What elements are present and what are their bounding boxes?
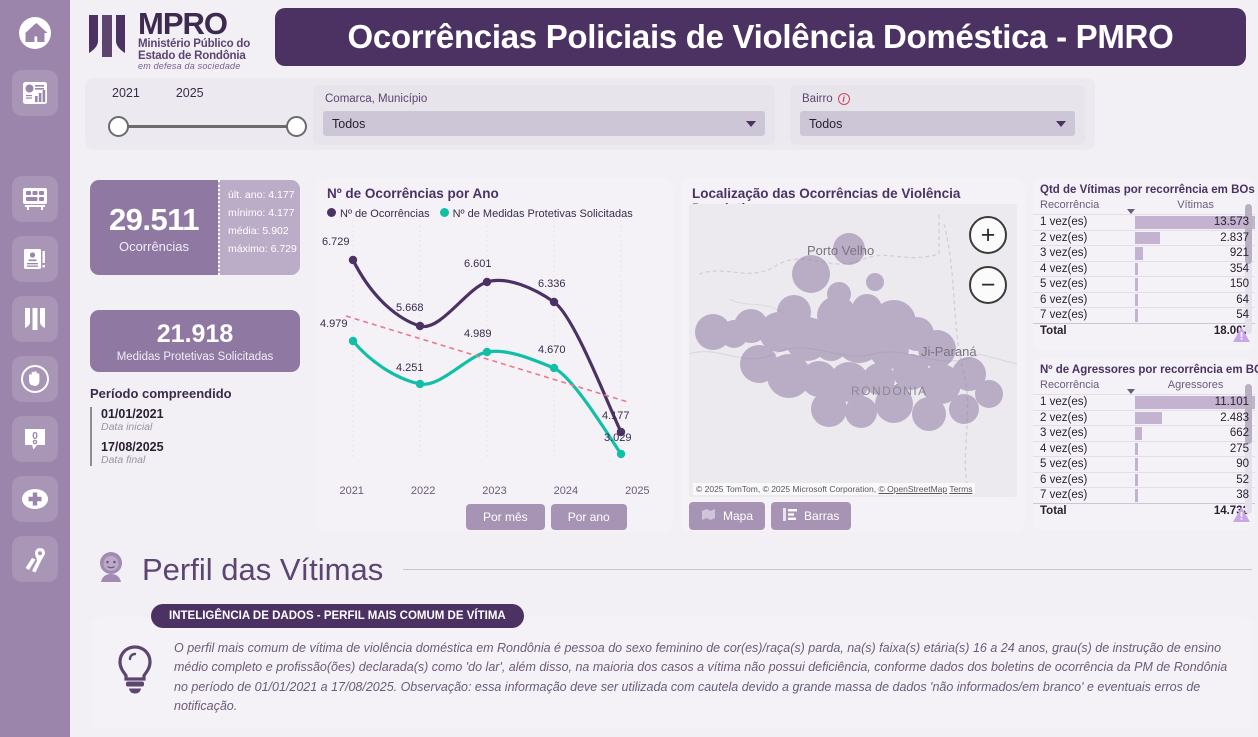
sort-caret-icon bbox=[1127, 389, 1135, 394]
logo-line-1: Ministério Público do bbox=[138, 39, 250, 51]
kpi-stat-min: mínimo: 4.177 bbox=[228, 207, 300, 219]
kpi-stat-avg: média: 5.902 bbox=[228, 225, 300, 237]
row-label: 7 vez(es) bbox=[1033, 308, 1135, 324]
victims-col-recurrence[interactable]: Recorrência bbox=[1033, 198, 1135, 215]
period-heading: Período compreendido bbox=[90, 386, 305, 401]
sidebar-item-speech-balloon[interactable]: 0 bbox=[12, 416, 58, 462]
map-canvas[interactable]: Porto Velho Ji-Paraná RONDÔNIA + − © 202… bbox=[689, 204, 1017, 497]
sidebar-item-dashboard[interactable] bbox=[12, 70, 58, 116]
table-total-row: Total14.732 bbox=[1033, 503, 1255, 519]
warning-icon[interactable] bbox=[1232, 326, 1251, 348]
slider-max-label: 2025 bbox=[176, 86, 204, 100]
chevron-down-icon bbox=[1056, 121, 1066, 127]
filter-bar: 2021 2025 Comarca, Município Todos Bairr… bbox=[85, 78, 1095, 150]
chevron-down-icon bbox=[746, 121, 756, 127]
table-row[interactable]: 7 vez(es)38 bbox=[1033, 488, 1255, 504]
table-row[interactable]: 2 vez(es)2.837 bbox=[1033, 230, 1255, 246]
row-bar bbox=[1135, 294, 1137, 307]
sidebar-item-ribbon[interactable] bbox=[12, 536, 58, 582]
warning-icon[interactable] bbox=[1232, 506, 1251, 528]
map-attribution: © 2025 TomTom, © 2025 Microsoft Corporat… bbox=[693, 483, 975, 495]
filter-bairro-label: Bairro i bbox=[790, 85, 1085, 105]
lightbulb-icon bbox=[117, 645, 153, 700]
aggressors-recurrence-table-panel: Nº de Agressores por recorrência em BOs … bbox=[1033, 358, 1255, 530]
map-place-rondonia: RONDÔNIA bbox=[851, 384, 928, 398]
x-tick-2022: 2022 bbox=[387, 485, 458, 497]
victim-avatar-icon bbox=[92, 548, 130, 591]
info-icon[interactable]: i bbox=[838, 93, 850, 105]
slider-track bbox=[118, 125, 297, 128]
row-value: 2.837 bbox=[1135, 230, 1255, 246]
mpro-shield-logo-icon bbox=[85, 13, 129, 67]
profile-heading: Perfil das Vítimas bbox=[142, 552, 383, 588]
logo-acronym: MPRO bbox=[138, 8, 250, 39]
x-tick-2025: 2025 bbox=[602, 485, 673, 497]
table-row[interactable]: 4 vez(es)354 bbox=[1033, 261, 1255, 277]
filter-bairro-label-text: Bairro bbox=[802, 93, 833, 105]
row-value: 90 bbox=[1135, 457, 1255, 473]
total-label: Total bbox=[1033, 323, 1135, 339]
aggressors-table-body: 1 vez(es)11.1012 vez(es)2.4833 vez(es)66… bbox=[1033, 395, 1255, 519]
row-bar bbox=[1135, 458, 1137, 471]
sidebar: 0 bbox=[0, 0, 70, 737]
table-row[interactable]: 6 vez(es)64 bbox=[1033, 292, 1255, 308]
row-label: 3 vez(es) bbox=[1033, 246, 1135, 262]
map-attribution-text: © 2025 TomTom, © 2025 Microsoft Corporat… bbox=[696, 484, 876, 494]
row-label: 3 vez(es) bbox=[1033, 426, 1135, 442]
chart-granularity-buttons: Por mês Por ano bbox=[466, 504, 627, 530]
victims-table: Recorrência Vítimas 1 vez(es)13.5732 vez… bbox=[1033, 198, 1255, 339]
row-bar bbox=[1135, 474, 1137, 487]
aggressors-table: Recorrência Agressores 1 vez(es)11.1012 … bbox=[1033, 378, 1255, 519]
row-bar bbox=[1135, 427, 1142, 440]
row-value: 150 bbox=[1135, 277, 1255, 293]
legend-item-occurrences[interactable]: Nº de Ocorrências bbox=[327, 208, 430, 220]
chart-label-occ-2022: 5.668 bbox=[396, 302, 424, 314]
row-label: 6 vez(es) bbox=[1033, 472, 1135, 488]
header: MPRO Ministério Público do Estado de Ron… bbox=[70, 0, 1258, 74]
sidebar-item-health-cross[interactable] bbox=[12, 476, 58, 522]
home-icon bbox=[18, 16, 52, 50]
row-label: 2 vez(es) bbox=[1033, 230, 1135, 246]
total-label: Total bbox=[1033, 503, 1135, 519]
sidebar-item-mpro-shield[interactable] bbox=[12, 296, 58, 342]
chart-title: Nº de Ocorrências por Ano bbox=[316, 178, 673, 201]
x-tick-2021: 2021 bbox=[316, 485, 387, 497]
row-bar bbox=[1135, 263, 1138, 276]
period-start-caption: Data inicial bbox=[101, 421, 305, 433]
year-range-slider[interactable]: 2021 2025 bbox=[100, 86, 315, 144]
kpi-protective-value: 21.918 bbox=[157, 320, 233, 349]
row-bar bbox=[1135, 232, 1160, 245]
row-bar bbox=[1135, 247, 1143, 260]
mpro-logo: MPRO Ministério Público do Estado de Ron… bbox=[85, 8, 250, 71]
map-place-porto-velho: Porto Velho bbox=[807, 244, 874, 258]
row-value: 13.573 bbox=[1135, 215, 1255, 231]
table-row[interactable]: 4 vez(es)275 bbox=[1033, 441, 1255, 457]
row-value: 275 bbox=[1135, 441, 1255, 457]
legend-label-protective: Nº de Medidas Protetivas Solicitadas bbox=[453, 208, 633, 220]
table-row[interactable]: 2 vez(es)2.483 bbox=[1033, 410, 1255, 426]
filter-comarca-value: Todos bbox=[332, 117, 365, 131]
chart-label-occ-2021: 6.729 bbox=[322, 236, 350, 248]
por-ano-button[interactable]: Por ano bbox=[551, 504, 627, 530]
mapa-button-label: Mapa bbox=[723, 509, 753, 523]
map-zoom-out-button[interactable]: − bbox=[969, 266, 1007, 304]
row-value: 38 bbox=[1135, 488, 1255, 504]
kpi-occurrences-label: Ocorrências bbox=[119, 239, 189, 254]
period-start-value: 01/01/2021 bbox=[101, 407, 305, 421]
health-cross-icon bbox=[21, 487, 49, 511]
row-value: 54 bbox=[1135, 308, 1255, 324]
aggressors-table-title: Nº de Agressores por recorrência em BOs bbox=[1033, 358, 1255, 376]
map-zoom-in-button[interactable]: + bbox=[969, 216, 1007, 254]
legend-item-protective[interactable]: Nº de Medidas Protetivas Solicitadas bbox=[440, 208, 633, 220]
row-label: 1 vez(es) bbox=[1033, 215, 1135, 231]
chart-label-prot-2025: 3.029 bbox=[604, 432, 632, 444]
table-row[interactable]: 5 vez(es)90 bbox=[1033, 457, 1255, 473]
chart-label-prot-2021: 4.979 bbox=[320, 318, 348, 330]
row-bar bbox=[1135, 278, 1137, 291]
kpi-stat-last-year: últ. ano: 4.177 bbox=[228, 189, 300, 201]
chart-label-occ-2025: 4.177 bbox=[602, 410, 630, 422]
kpi-protective-label: Medidas Protetivas Solicitadas bbox=[117, 351, 274, 363]
profile-description-box: O perfil mais comum de vítima de violênc… bbox=[92, 617, 1252, 729]
kpi-occurrences-stats: últ. ano: 4.177 mínimo: 4.177 média: 5.9… bbox=[218, 180, 300, 275]
por-mes-button[interactable]: Por mês bbox=[466, 504, 545, 530]
filter-bairro-value: Todos bbox=[809, 117, 842, 131]
chart-x-axis: 2021 2022 2023 2024 2025 bbox=[316, 485, 673, 497]
document-icon bbox=[21, 245, 49, 273]
page-title-text: Ocorrências Policiais de Violência Domés… bbox=[348, 18, 1174, 56]
mpro-shield-icon bbox=[22, 305, 48, 333]
profile-header: Perfil das Vítimas bbox=[92, 548, 1252, 591]
filter-comarca-select[interactable]: Todos bbox=[323, 111, 765, 136]
row-bar bbox=[1135, 443, 1138, 456]
table-row[interactable]: 1 vez(es)13.573 bbox=[1033, 215, 1255, 231]
slider-handle-max[interactable] bbox=[286, 116, 307, 137]
row-value: 64 bbox=[1135, 292, 1255, 308]
row-value: 354 bbox=[1135, 261, 1255, 277]
victims-recurrence-table-panel: Qtd de Vítimas por recorrência em BOs Re… bbox=[1033, 178, 1255, 350]
map-attribution-osm-link[interactable]: © OpenStreetMap bbox=[878, 484, 947, 494]
chart-label-prot-2023: 4.989 bbox=[464, 328, 492, 340]
table-row[interactable]: 3 vez(es)662 bbox=[1033, 426, 1255, 442]
logo-tagline: em defesa da sociedade bbox=[138, 62, 250, 71]
occurrences-chart-panel: Nº de Ocorrências por Ano Nº de Ocorrênc… bbox=[316, 178, 673, 532]
row-label: 5 vez(es) bbox=[1033, 277, 1135, 293]
row-value: 11.101 bbox=[1135, 395, 1255, 411]
sidebar-item-home[interactable] bbox=[12, 10, 58, 56]
map-place-ji-parana: Ji-Paraná bbox=[921, 344, 977, 359]
victims-table-title: Qtd de Vítimas por recorrência em BOs bbox=[1033, 178, 1255, 196]
period-block: Período compreendido 01/01/2021 Data ini… bbox=[90, 386, 305, 473]
kpi-protective-measures: 21.918 Medidas Protetivas Solicitadas bbox=[90, 310, 300, 372]
table-row[interactable]: 3 vez(es)921 bbox=[1033, 246, 1255, 262]
row-value: 52 bbox=[1135, 472, 1255, 488]
bars-icon bbox=[783, 508, 797, 524]
speech-balloon-icon: 0 bbox=[22, 425, 48, 453]
kpi-occurrences-value: 29.511 bbox=[109, 202, 199, 238]
hand-stop-icon bbox=[20, 364, 50, 394]
chart-svg bbox=[316, 220, 673, 505]
row-label: 2 vez(es) bbox=[1033, 410, 1135, 426]
row-label: 5 vez(es) bbox=[1033, 457, 1135, 473]
table-row[interactable]: 7 vez(es)54 bbox=[1033, 308, 1255, 324]
row-bar bbox=[1135, 412, 1162, 425]
chart-label-occ-2024: 6.336 bbox=[538, 278, 566, 290]
aggressors-col-recurrence[interactable]: Recorrência bbox=[1033, 378, 1135, 395]
slider-handle-min[interactable] bbox=[108, 116, 129, 137]
victims-col-value[interactable]: Vítimas bbox=[1135, 198, 1255, 215]
dashboard-icon bbox=[21, 79, 49, 107]
row-label: 1 vez(es) bbox=[1033, 395, 1135, 411]
chart-label-occ-2023: 6.601 bbox=[464, 258, 492, 270]
table-row[interactable]: 5 vez(es)150 bbox=[1033, 277, 1255, 293]
table-row[interactable]: 6 vez(es)52 bbox=[1033, 472, 1255, 488]
victims-table-body: 1 vez(es)13.5732 vez(es)2.8373 vez(es)92… bbox=[1033, 215, 1255, 339]
barras-button-label: Barras bbox=[804, 509, 839, 523]
map-view-buttons: Mapa Barras bbox=[689, 502, 851, 530]
slider-min-label: 2021 bbox=[112, 86, 140, 100]
map-icon bbox=[701, 508, 716, 524]
row-value: 2.483 bbox=[1135, 410, 1255, 426]
x-tick-2024: 2024 bbox=[530, 485, 601, 497]
period-end-caption: Data final bbox=[101, 454, 305, 466]
profile-divider bbox=[403, 569, 1252, 570]
ribbon-icon bbox=[21, 545, 49, 573]
aggressors-col-value-label: Agressores bbox=[1168, 379, 1224, 391]
row-label: 4 vez(es) bbox=[1033, 261, 1135, 277]
aggressors-col-value[interactable]: Agressores bbox=[1135, 378, 1255, 395]
chart-plot[interactable]: 6.729 5.668 6.601 6.336 4.177 4.979 4.25… bbox=[316, 220, 673, 505]
intelligence-badge: INTELIGÊNCIA DE DADOS - PERFIL MAIS COMU… bbox=[151, 604, 524, 628]
kpi-occurrences: 29.511 Ocorrências últ. ano: 4.177 mínim… bbox=[90, 180, 300, 275]
map-attribution-terms-link[interactable]: Terms bbox=[949, 484, 972, 494]
row-label: 4 vez(es) bbox=[1033, 441, 1135, 457]
row-label: 6 vez(es) bbox=[1033, 292, 1135, 308]
chart-label-prot-2022: 4.251 bbox=[396, 362, 424, 374]
row-bar bbox=[1135, 309, 1137, 322]
map-panel: Localização das Ocorrências de Violência… bbox=[681, 178, 1025, 532]
sidebar-item-document[interactable] bbox=[12, 236, 58, 282]
x-tick-2023: 2023 bbox=[459, 485, 530, 497]
period-end-value: 17/08/2025 bbox=[101, 440, 305, 454]
row-bar bbox=[1135, 489, 1137, 502]
mapa-button[interactable]: Mapa bbox=[689, 502, 765, 530]
chart-label-prot-2024: 4.670 bbox=[538, 344, 566, 356]
filter-bairro-select[interactable]: Todos bbox=[800, 111, 1075, 136]
filter-comarca: Comarca, Município Todos bbox=[313, 85, 775, 145]
filter-comarca-label: Comarca, Município bbox=[313, 85, 775, 105]
sidebar-item-grid[interactable] bbox=[12, 176, 58, 222]
chart-legend: Nº de Ocorrências Nº de Medidas Protetiv… bbox=[316, 201, 673, 220]
row-value: 662 bbox=[1135, 426, 1255, 442]
row-value: 921 bbox=[1135, 246, 1255, 262]
sidebar-item-hand-stop[interactable] bbox=[12, 356, 58, 402]
profile-description-text: O perfil mais comum de vítima de violênc… bbox=[174, 639, 1230, 717]
sort-caret-icon bbox=[1127, 209, 1135, 214]
page-title: Ocorrências Policiais de Violência Domés… bbox=[275, 8, 1246, 66]
victims-col-value-label: Vítimas bbox=[1177, 199, 1214, 211]
legend-label-occurrences: Nº de Ocorrências bbox=[340, 208, 430, 220]
row-label: 7 vez(es) bbox=[1033, 488, 1135, 504]
filter-bairro: Bairro i Todos bbox=[790, 85, 1085, 145]
table-total-row: Total18.007 bbox=[1033, 323, 1255, 339]
grid-icon bbox=[21, 186, 49, 212]
table-row[interactable]: 1 vez(es)11.101 bbox=[1033, 395, 1255, 411]
kpi-stat-max: máximo: 6.729 bbox=[228, 243, 300, 255]
barras-button[interactable]: Barras bbox=[771, 502, 851, 530]
